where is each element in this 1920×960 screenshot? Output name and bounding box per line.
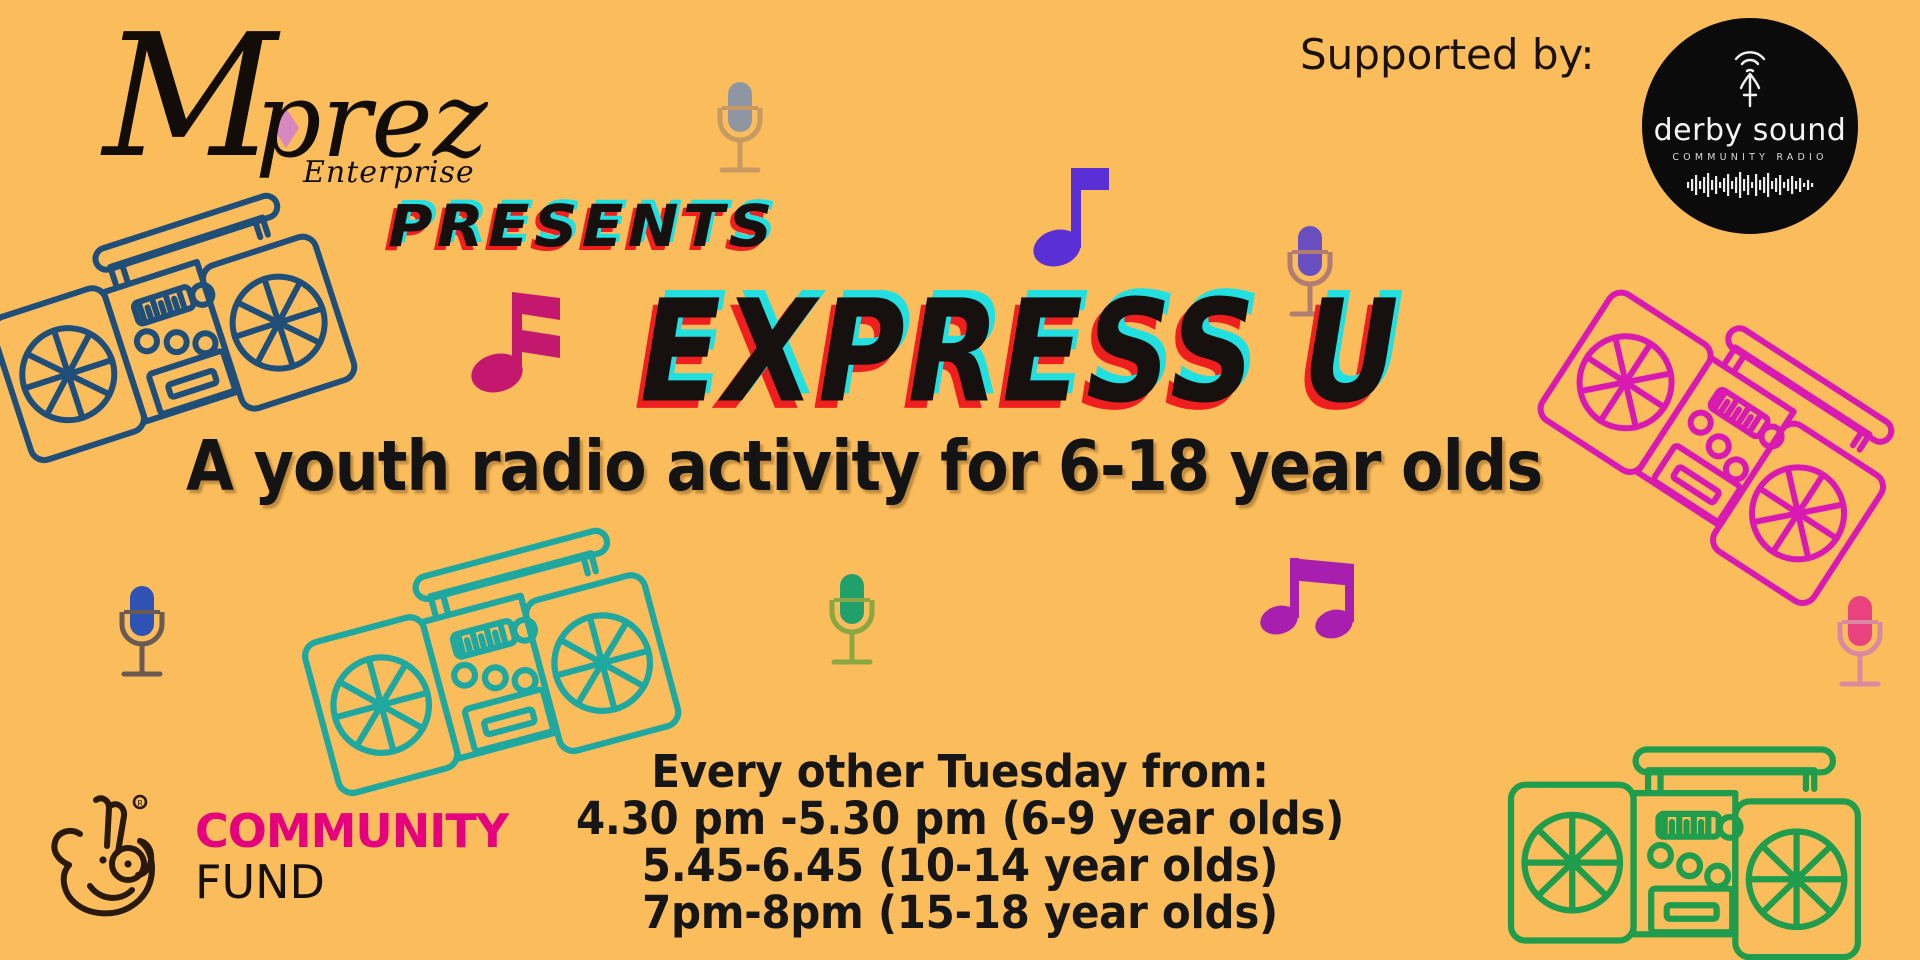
svg-text:R: R [137,799,143,808]
boombox-magenta [1505,218,1920,651]
community-fund-name-secondary: FUND [195,858,508,906]
radio-tower-icon [1715,54,1785,110]
mprez-enterprise-logo: M prez Enterprise [55,10,475,200]
note-violet-icon [1035,160,1115,268]
mic-pink-icon [1828,592,1892,702]
mprez-logo-tagline: Enterprise [303,158,475,188]
supported-by-label: Supported by: [1300,30,1595,79]
boombox-green [1500,710,1900,960]
mic-green-icon [820,570,884,680]
schedule-line-2: 5.45-6.45 (10-14 year olds) [576,840,1344,891]
community-fund-wordmark: COMMUNITY FUND [195,808,508,906]
derby-sound-name: derby sound [1654,116,1847,146]
community-fund-name-primary: COMMUNITY [195,808,508,854]
schedule-block: Every other Tuesday from: 4.30 pm -5.30 … [576,748,1344,936]
schedule-line-1: 4.30 pm -5.30 pm (6-9 year olds) [576,793,1344,844]
note-crimson-icon [468,278,564,394]
mprez-logo-letter: M [103,12,277,182]
page-title: EXPRESS U [640,270,1402,435]
schedule-line-3: 7pm-8pm (15-18 year olds) [576,887,1344,938]
presents-label: PRESENTS [388,192,777,260]
derby-sound-subtitle: COMMUNITY RADIO [1672,153,1827,163]
schedule-heading: Every other Tuesday from: [576,746,1344,797]
page-subtitle: A youth radio activity for 6-18 year old… [186,425,1542,507]
audio-waveform-icon [1685,172,1815,198]
mic-grey-icon [708,78,772,188]
community-fund-logo: R COMMUNITY FUND [40,790,460,935]
derby-sound-logo: derby sound COMMUNITY RADIO [1642,18,1858,234]
mic-blue-icon [110,582,174,692]
poster-canvas: M prez Enterprise PRESENTS Supported by:… [0,0,1920,960]
crossed-fingers-icon: R [40,790,190,930]
note-purple-icon [1262,552,1362,642]
